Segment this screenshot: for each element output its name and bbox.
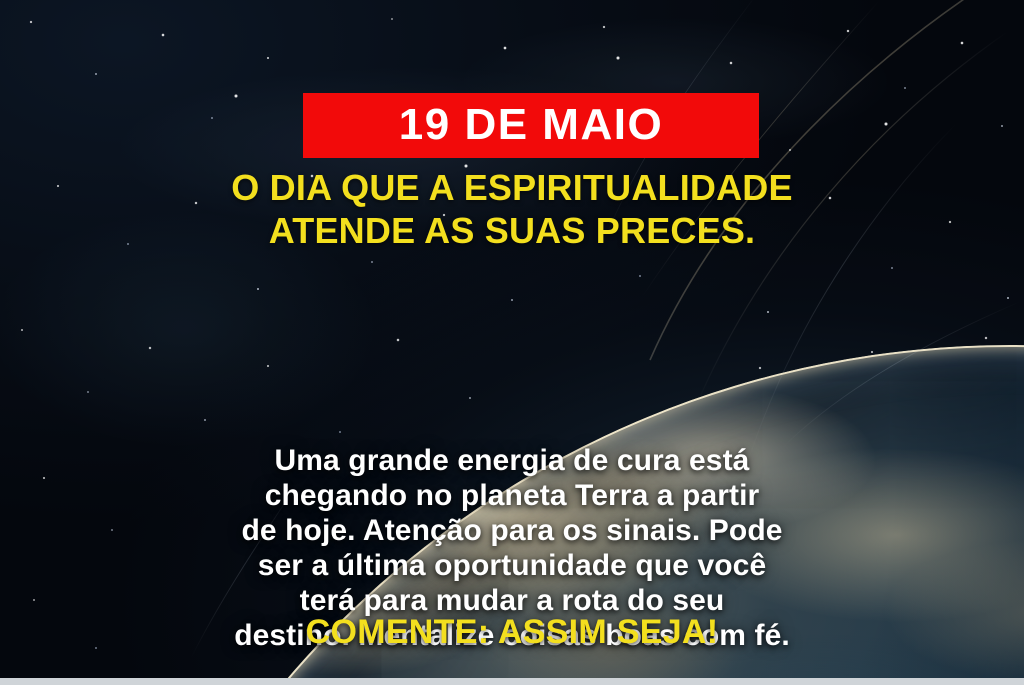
date-badge: 19 DE MAIO	[303, 93, 759, 158]
date-badge-label: 19 DE MAIO	[399, 103, 663, 147]
body-line-2: chegando no planeta Terra a partir	[0, 478, 1024, 513]
headline-line-1: O DIA QUE A ESPIRITUALIDADE	[0, 166, 1024, 209]
body-line-1: Uma grande energia de cura está	[0, 443, 1024, 478]
poster-image: 19 DE MAIO O DIA QUE A ESPIRITUALIDADE A…	[0, 0, 1024, 685]
bottom-border-strip	[0, 678, 1024, 685]
poster-content: 19 DE MAIO O DIA QUE A ESPIRITUALIDADE A…	[0, 0, 1024, 685]
headline-line-2: ATENDE AS SUAS PRECES.	[0, 209, 1024, 252]
headline: O DIA QUE A ESPIRITUALIDADE ATENDE AS SU…	[0, 166, 1024, 252]
call-to-action: COMENTE: ASSIM SEJA!	[0, 614, 1024, 651]
body-line-4: ser a última oportunidade que você	[0, 548, 1024, 583]
body-line-3: de hoje. Atenção para os sinais. Pode	[0, 513, 1024, 548]
